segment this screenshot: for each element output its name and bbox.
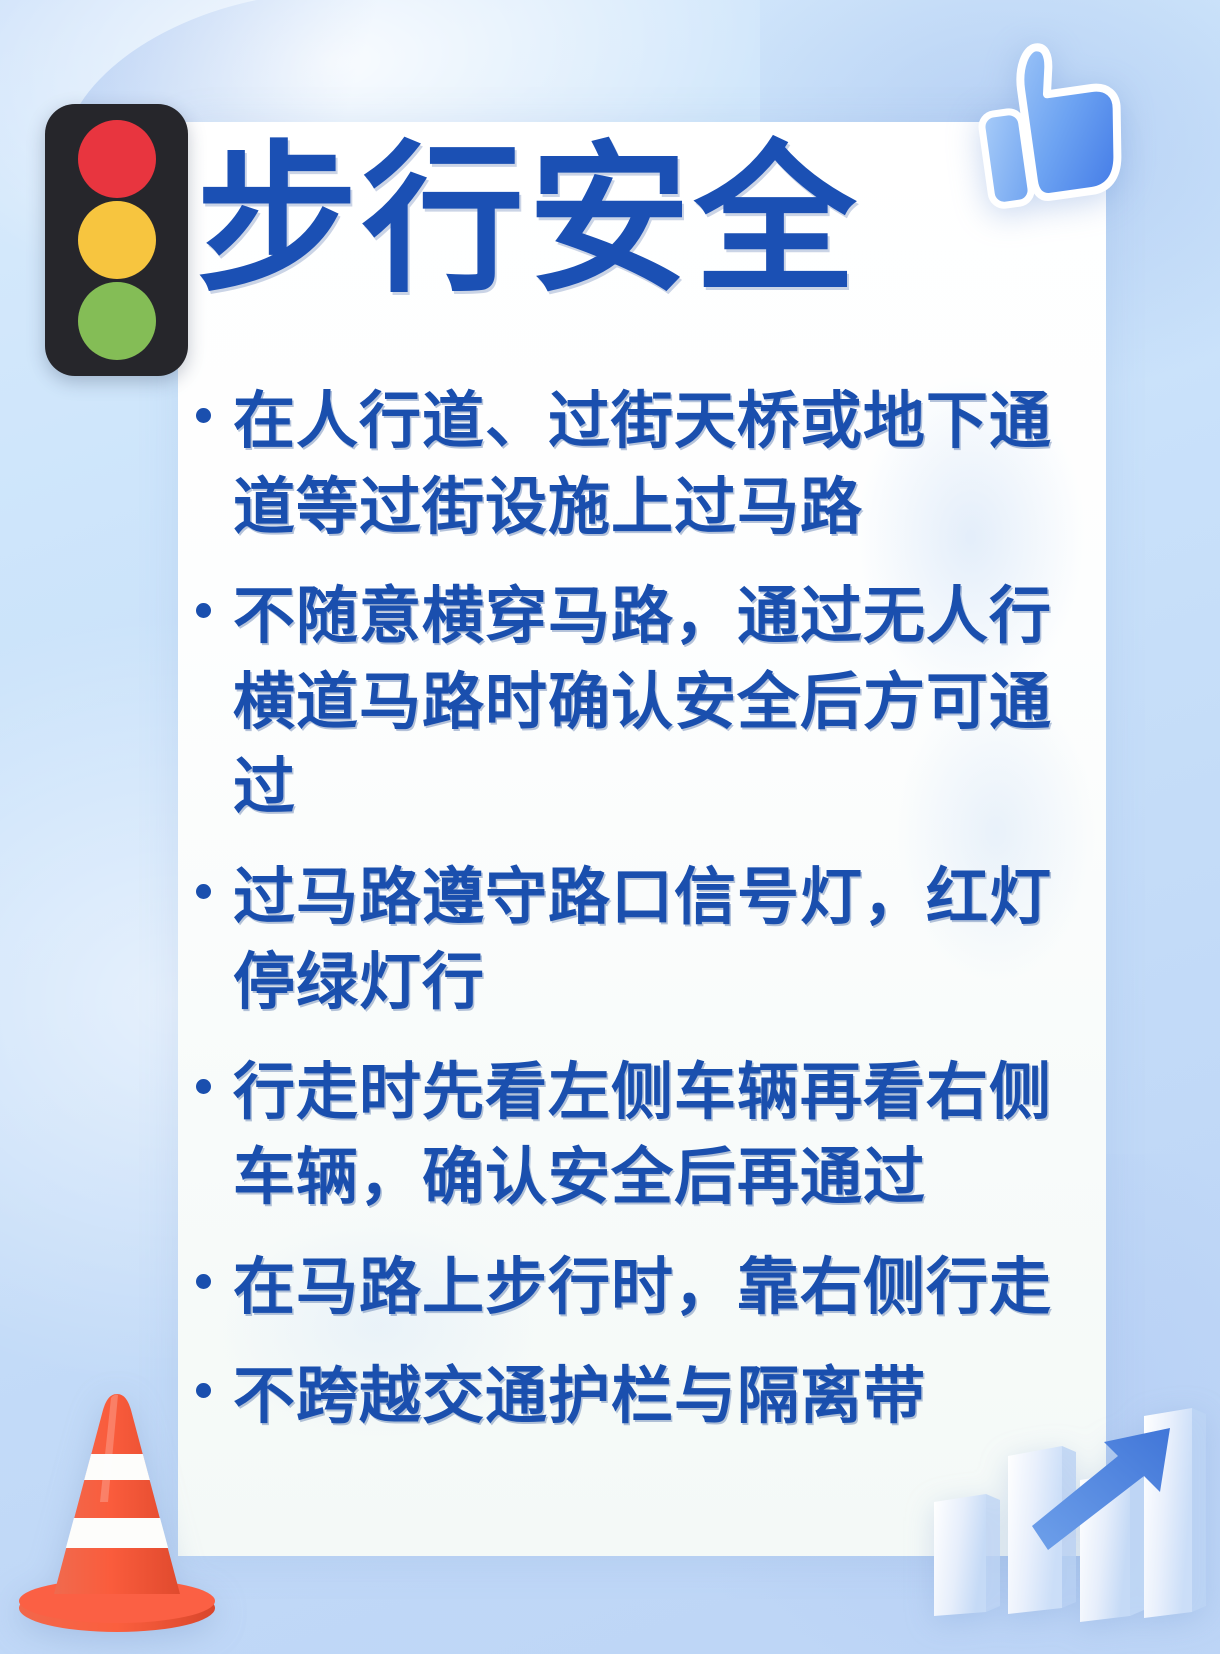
traffic-cone-icon <box>12 1382 222 1642</box>
list-item-text: 在马路上步行时，靠右侧行走 <box>233 1244 1076 1330</box>
bullet-dot-icon <box>196 408 211 423</box>
list-item: 不随意横穿马路，通过无人行横道马路时确认安全后方可通过 <box>196 573 1076 830</box>
bullet-dot-icon <box>196 1079 211 1094</box>
yellow-lamp-icon <box>78 201 156 279</box>
green-lamp-icon <box>78 282 156 360</box>
list-item: 过马路遵守路口信号灯，红灯停绿灯行 <box>196 854 1076 1025</box>
bullet-dot-icon <box>196 884 211 899</box>
list-item-text: 行走时先看左侧车辆再看右侧车辆，确认安全后再通过 <box>233 1049 1076 1220</box>
bullet-dot-icon <box>196 603 211 618</box>
list-item-text: 在人行道、过街天桥或地下通道等过街设施上过马路 <box>233 378 1076 549</box>
bullet-dot-icon <box>196 1274 211 1289</box>
traffic-light-icon <box>45 104 188 376</box>
red-lamp-icon <box>78 120 156 198</box>
list-item: 在马路上步行时，靠右侧行走 <box>196 1244 1076 1330</box>
list-item: 行走时先看左侧车辆再看右侧车辆，确认安全后再通过 <box>196 1049 1076 1220</box>
page-title: 步行安全 <box>196 140 860 302</box>
poster-canvas: 步行安全 在人行道、过街天桥或地下通道等过街设施上过马路 不随意横穿马路，通过无… <box>0 0 1220 1654</box>
bar-chart-icon <box>912 1344 1212 1634</box>
list-item: 在人行道、过街天桥或地下通道等过街设施上过马路 <box>196 378 1076 549</box>
thumbs-up-icon <box>966 28 1136 218</box>
safety-rules-list: 在人行道、过街天桥或地下通道等过街设施上过马路 不随意横穿马路，通过无人行横道马… <box>196 378 1076 1463</box>
list-item-text: 过马路遵守路口信号灯，红灯停绿灯行 <box>233 854 1076 1025</box>
list-item-text: 不随意横穿马路，通过无人行横道马路时确认安全后方可通过 <box>233 573 1076 830</box>
